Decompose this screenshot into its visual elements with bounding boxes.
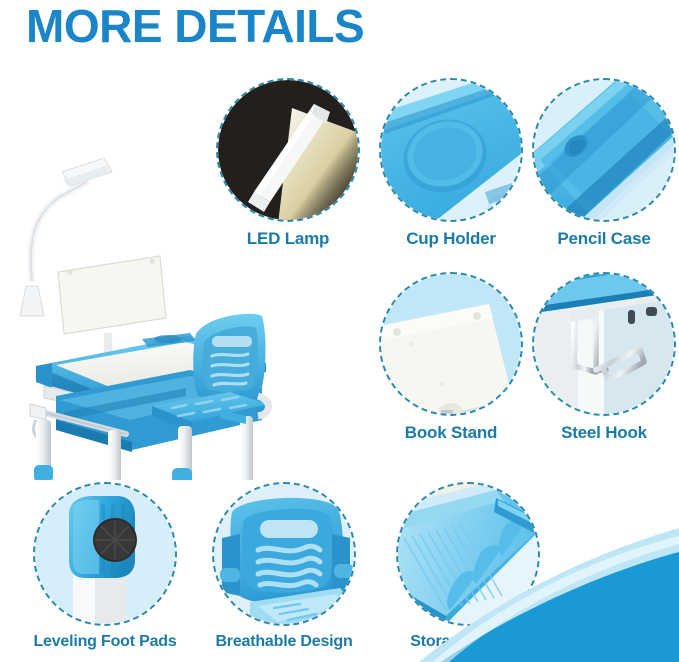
ventilation-icon — [214, 484, 354, 624]
feature-pencil-case[interactable]: Pencil Case — [532, 78, 676, 249]
foot-pad-icon — [35, 484, 175, 624]
hook-icon — [534, 274, 674, 414]
book-icon — [381, 274, 521, 414]
feature-steel-hook[interactable]: Steel Hook — [532, 272, 676, 443]
pencil-icon — [534, 80, 674, 220]
feature-label: Leveling Foot Pads — [33, 633, 177, 651]
lamp-icon — [218, 80, 358, 220]
feature-leveling-foot-pads[interactable]: Leveling Foot Pads — [33, 482, 177, 651]
page-title: MORE DETAILS — [26, 2, 364, 50]
feature-book-stand[interactable]: Book Stand — [379, 272, 523, 443]
feature-label: Storage Drawer — [396, 633, 540, 651]
feature-label: Cup Holder — [379, 229, 523, 249]
feature-led-lamp[interactable]: LED Lamp — [216, 78, 360, 249]
drawer-icon — [398, 484, 538, 624]
feature-label: Book Stand — [379, 423, 523, 443]
feature-label: LED Lamp — [216, 229, 360, 249]
feature-label: Pencil Case — [532, 229, 676, 249]
feature-breathable-design[interactable]: Breathable Design — [212, 482, 356, 651]
feature-storage-drawer[interactable]: Storage Drawer — [396, 482, 540, 651]
feature-label: Steel Hook — [532, 423, 676, 443]
feature-cup-holder[interactable]: Cup Holder — [379, 78, 523, 249]
infographic-canvas: MORE DETAILS — [0, 0, 679, 662]
cup-icon — [381, 80, 521, 220]
feature-label: Breathable Design — [212, 633, 356, 651]
